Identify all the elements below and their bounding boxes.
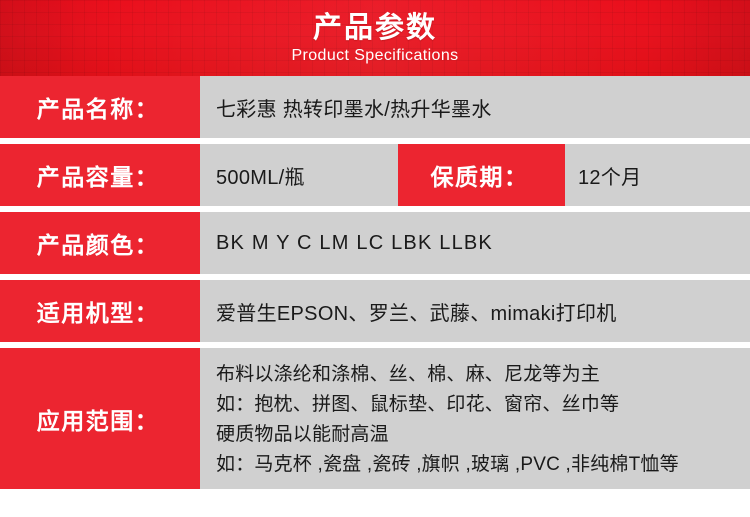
spec-label-volume: 产品容量： xyxy=(0,144,200,206)
scope-line: 布料以涤纶和涤棉、丝、棉、麻、尼龙等为主 xyxy=(216,362,679,388)
spec-row-volume: 产品容量： 500ML/瓶 保质期： 12个月 xyxy=(0,144,750,206)
spec-value-color: BK M Y C LM LC LBK LLBK xyxy=(200,212,750,274)
spec-label-product-name: 产品名称： xyxy=(0,76,200,138)
header-banner: 产品参数 Product Specifications xyxy=(0,0,750,76)
spec-value-shelf-life: 12个月 xyxy=(565,144,750,206)
scope-line: 硬质物品以能耐高温 xyxy=(216,422,679,448)
spec-label-scope: 应用范围： xyxy=(0,348,200,489)
scope-line: 如：抱枕、拼图、鼠标垫、印花、窗帘、丝巾等 xyxy=(216,392,679,418)
page-title-cn: 产品参数 xyxy=(313,12,437,45)
spec-value-volume: 500ML/瓶 xyxy=(200,144,398,206)
header-banner-content: 产品参数 Product Specifications xyxy=(0,0,750,76)
product-spec-sheet: 产品参数 Product Specifications 产品名称： 七彩惠 热转… xyxy=(0,0,750,517)
spec-label-color: 产品颜色： xyxy=(0,212,200,274)
spec-label-shelf-life: 保质期： xyxy=(398,144,565,206)
scope-line-list: 布料以涤纶和涤棉、丝、棉、麻、尼龙等为主 如：抱枕、拼图、鼠标垫、印花、窗帘、丝… xyxy=(216,362,679,478)
spec-value-model: 爱普生EPSON、罗兰、武藤、mimaki打印机 xyxy=(200,280,750,342)
spec-row-scope: 应用范围： 布料以涤纶和涤棉、丝、棉、麻、尼龙等为主 如：抱枕、拼图、鼠标垫、印… xyxy=(0,348,750,489)
spec-value-scope: 布料以涤纶和涤棉、丝、棉、麻、尼龙等为主 如：抱枕、拼图、鼠标垫、印花、窗帘、丝… xyxy=(200,348,750,489)
scope-line: 如：马克杯 ,瓷盘 ,瓷砖 ,旗帜 ,玻璃 ,PVC ,非纯棉T恤等 xyxy=(216,452,679,478)
page-title-en: Product Specifications xyxy=(291,46,458,65)
spec-label-model: 适用机型： xyxy=(0,280,200,342)
spec-table: 产品名称： 七彩惠 热转印墨水/热升华墨水 产品容量： 500ML/瓶 保质期：… xyxy=(0,76,750,489)
spec-value-product-name: 七彩惠 热转印墨水/热升华墨水 xyxy=(200,76,750,138)
spec-row-product-name: 产品名称： 七彩惠 热转印墨水/热升华墨水 xyxy=(0,76,750,138)
spec-row-color: 产品颜色： BK M Y C LM LC LBK LLBK xyxy=(0,212,750,274)
spec-row-model: 适用机型： 爱普生EPSON、罗兰、武藤、mimaki打印机 xyxy=(0,280,750,342)
